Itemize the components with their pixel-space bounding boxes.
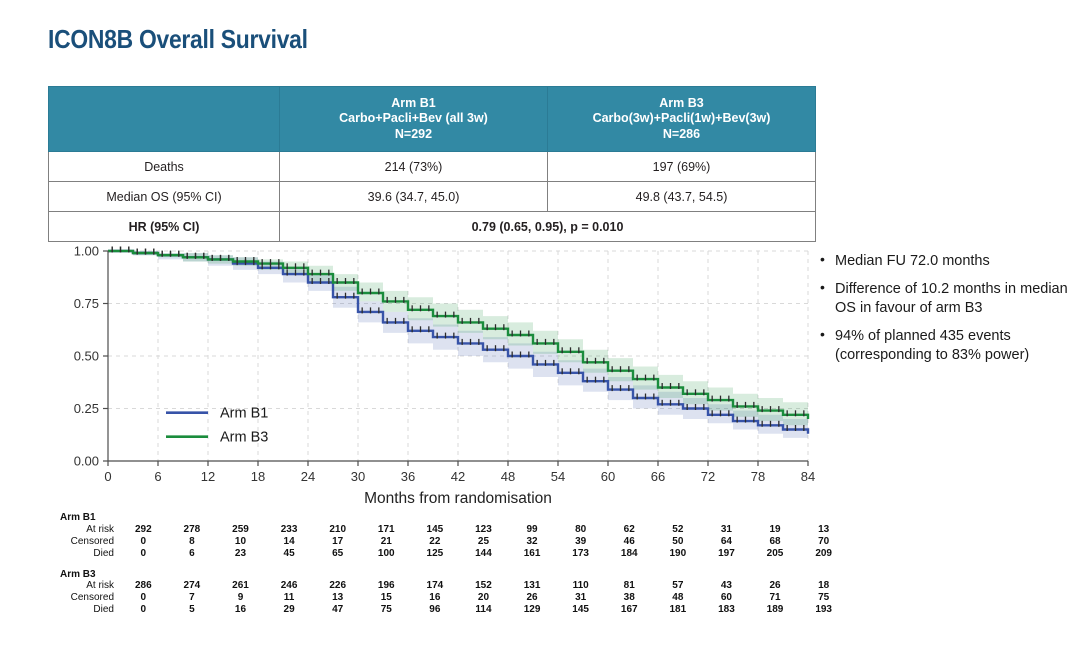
risk-value: 45 [265, 548, 314, 560]
risk-block-arm-b1: Arm B1At risk292278259233210171145123998… [58, 512, 848, 560]
risk-value: 167 [605, 604, 654, 616]
y-axis-tick-label: 0.25 [74, 401, 99, 416]
risk-value: 152 [459, 580, 508, 592]
risk-value: 65 [313, 548, 362, 560]
risk-value: 48 [654, 592, 703, 604]
risk-value: 209 [799, 548, 848, 560]
risk-value: 197 [702, 548, 751, 560]
risk-value: 210 [313, 524, 362, 536]
arm-b3-regimen: Carbo(3w)+Pacli(1w)+Bev(3w) [552, 111, 811, 127]
deaths-arm-b1: 214 (73%) [280, 152, 548, 182]
risk-value: 11 [265, 592, 314, 604]
risk-row-label: At risk [58, 524, 119, 536]
risk-value: 161 [508, 548, 557, 560]
risk-grid: At risk292278259233210171145123998062523… [58, 524, 848, 560]
risk-value: 57 [654, 580, 703, 592]
risk-value: 64 [702, 536, 751, 548]
median-os-arm-b1: 39.6 (34.7, 45.0) [280, 182, 548, 212]
risk-value: 16 [411, 592, 460, 604]
y-axis-tick-label: 0.00 [74, 454, 99, 469]
risk-value: 47 [313, 604, 362, 616]
risk-value: 43 [702, 580, 751, 592]
arm-b1-name: Arm B1 [284, 96, 543, 112]
arm-b3-n: N=286 [552, 127, 811, 143]
risk-value: 174 [411, 580, 460, 592]
risk-value: 50 [654, 536, 703, 548]
risk-value: 246 [265, 580, 314, 592]
risk-value: 233 [265, 524, 314, 536]
risk-value: 6 [168, 548, 217, 560]
risk-value: 13 [799, 524, 848, 536]
risk-value: 18 [799, 580, 848, 592]
risk-value: 144 [459, 548, 508, 560]
risk-value: 38 [605, 592, 654, 604]
column-header-arm-b3: Arm B3 Carbo(3w)+Pacli(1w)+Bev(3w) N=286 [548, 87, 816, 152]
risk-value: 31 [556, 592, 605, 604]
legend-label-arm-b1: Arm B1 [220, 406, 268, 422]
risk-value: 110 [556, 580, 605, 592]
risk-value: 70 [799, 536, 848, 548]
risk-value: 25 [459, 536, 508, 548]
table-row: Censored079111315162026313848607175 [58, 592, 848, 604]
x-axis-tick-label: 6 [154, 469, 161, 484]
risk-value: 22 [411, 536, 460, 548]
risk-value: 114 [459, 604, 508, 616]
table-row-median-os: Median OS (95% CI) 39.6 (34.7, 45.0) 49.… [49, 182, 816, 212]
key-points-list: Median FU 72.0 months Difference of 10.2… [818, 252, 1070, 374]
summary-table: Arm B1 Carbo+Pacli+Bev (all 3w) N=292 Ar… [48, 86, 816, 242]
risk-value: 181 [654, 604, 703, 616]
deaths-arm-b3: 197 (69%) [548, 152, 816, 182]
risk-value: 7 [168, 592, 217, 604]
risk-value: 46 [605, 536, 654, 548]
risk-value: 0 [119, 604, 168, 616]
risk-value: 81 [605, 580, 654, 592]
risk-block-arm-b3: Arm B3At risk286274261246226196174152131… [58, 569, 848, 617]
x-axis-tick-label: 54 [551, 469, 565, 484]
risk-value: 80 [556, 524, 605, 536]
list-item: Median FU 72.0 months [818, 252, 1070, 270]
risk-value: 0 [119, 548, 168, 560]
x-axis-tick-label: 66 [651, 469, 665, 484]
risk-value: 184 [605, 548, 654, 560]
kaplan-meier-chart: 0.000.250.500.751.0006121824303642485460… [56, 243, 816, 513]
risk-value: 71 [751, 592, 800, 604]
risk-value: 286 [119, 580, 168, 592]
risk-value: 26 [751, 580, 800, 592]
list-item: 94% of planned 435 events (corresponding… [818, 327, 1070, 364]
risk-value: 19 [751, 524, 800, 536]
numbers-at-risk-section: Arm B1At risk292278259233210171145123998… [58, 512, 848, 625]
risk-row-label: At risk [58, 580, 119, 592]
risk-value: 0 [119, 536, 168, 548]
column-header-arm-b1: Arm B1 Carbo+Pacli+Bev (all 3w) N=292 [280, 87, 548, 152]
risk-value: 123 [459, 524, 508, 536]
risk-value: 62 [605, 524, 654, 536]
table-row-hazard-ratio: HR (95% CI) 0.79 (0.65, 0.95), p = 0.010 [49, 212, 816, 242]
risk-value: 292 [119, 524, 168, 536]
table-row-deaths: Deaths 214 (73%) 197 (69%) [49, 152, 816, 182]
risk-value: 13 [313, 592, 362, 604]
risk-value: 39 [556, 536, 605, 548]
risk-value: 129 [508, 604, 557, 616]
x-axis-tick-label: 18 [251, 469, 265, 484]
risk-value: 183 [702, 604, 751, 616]
risk-value: 131 [508, 580, 557, 592]
risk-value: 75 [362, 604, 411, 616]
risk-value: 196 [362, 580, 411, 592]
arm-b1-regimen: Carbo+Pacli+Bev (all 3w) [284, 111, 543, 127]
risk-row-label: Censored [58, 536, 119, 548]
risk-value: 205 [751, 548, 800, 560]
table-row: Censored0810141721222532394650646870 [58, 536, 848, 548]
x-axis-tick-label: 12 [201, 469, 215, 484]
x-axis-tick-label: 24 [301, 469, 315, 484]
risk-row-label: Died [58, 548, 119, 560]
risk-value: 226 [313, 580, 362, 592]
y-axis-tick-label: 0.50 [74, 349, 99, 364]
risk-value: 20 [459, 592, 508, 604]
x-axis-tick-label: 60 [601, 469, 615, 484]
table-row: Died062345651001251441611731841901972052… [58, 548, 848, 560]
risk-block-arm-label: Arm B3 [60, 569, 848, 581]
risk-value: 29 [265, 604, 314, 616]
risk-value: 5 [168, 604, 217, 616]
x-axis-tick-label: 78 [751, 469, 765, 484]
risk-value: 189 [751, 604, 800, 616]
risk-value: 10 [216, 536, 265, 548]
risk-value: 99 [508, 524, 557, 536]
risk-value: 278 [168, 524, 217, 536]
risk-block-arm-label: Arm B1 [60, 512, 848, 524]
x-axis-tick-label: 0 [104, 469, 111, 484]
x-axis-tick-label: 30 [351, 469, 365, 484]
page-title: ICON8B Overall Survival [48, 24, 308, 55]
risk-value: 16 [216, 604, 265, 616]
risk-value: 125 [411, 548, 460, 560]
row-label-hazard-ratio: HR (95% CI) [49, 212, 280, 242]
risk-value: 52 [654, 524, 703, 536]
risk-value: 17 [313, 536, 362, 548]
y-axis-tick-label: 1.00 [74, 244, 99, 259]
x-axis-tick-label: 36 [401, 469, 415, 484]
risk-value: 173 [556, 548, 605, 560]
x-axis-tick-label: 84 [801, 469, 815, 484]
row-label-deaths: Deaths [49, 152, 280, 182]
risk-value: 68 [751, 536, 800, 548]
x-axis-tick-label: 72 [701, 469, 715, 484]
row-label-median-os: Median OS (95% CI) [49, 182, 280, 212]
risk-value: 31 [702, 524, 751, 536]
table-row: At risk292278259233210171145123998062523… [58, 524, 848, 536]
table-corner-cell [49, 87, 280, 152]
risk-value: 23 [216, 548, 265, 560]
arm-b1-n: N=292 [284, 127, 543, 143]
risk-value: 60 [702, 592, 751, 604]
table-row: At risk286274261246226196174152131110815… [58, 580, 848, 592]
table-header-row: Arm B1 Carbo+Pacli+Bev (all 3w) N=292 Ar… [49, 87, 816, 152]
risk-row-label: Died [58, 604, 119, 616]
risk-value: 15 [362, 592, 411, 604]
y-axis-tick-label: 0.75 [74, 296, 99, 311]
list-item: Difference of 10.2 months in median OS i… [818, 280, 1070, 317]
x-axis-label: Months from randomisation [364, 490, 552, 507]
risk-value: 100 [362, 548, 411, 560]
risk-value: 261 [216, 580, 265, 592]
risk-value: 9 [216, 592, 265, 604]
risk-value: 145 [411, 524, 460, 536]
x-axis-tick-label: 48 [501, 469, 515, 484]
table-row: Died051629477596114129145167181183189193 [58, 604, 848, 616]
risk-value: 32 [508, 536, 557, 548]
risk-value: 75 [799, 592, 848, 604]
risk-row-label: Censored [58, 592, 119, 604]
risk-value: 259 [216, 524, 265, 536]
risk-value: 190 [654, 548, 703, 560]
risk-value: 0 [119, 592, 168, 604]
arm-b3-name: Arm B3 [552, 96, 811, 112]
median-os-arm-b3: 49.8 (43.7, 54.5) [548, 182, 816, 212]
risk-value: 8 [168, 536, 217, 548]
hazard-ratio-value: 0.79 (0.65, 0.95), p = 0.010 [280, 212, 816, 242]
legend-label-arm-b3: Arm B3 [220, 430, 268, 446]
risk-value: 96 [411, 604, 460, 616]
risk-value: 171 [362, 524, 411, 536]
risk-value: 193 [799, 604, 848, 616]
risk-value: 26 [508, 592, 557, 604]
risk-value: 21 [362, 536, 411, 548]
x-axis-tick-label: 42 [451, 469, 465, 484]
risk-value: 145 [556, 604, 605, 616]
risk-value: 14 [265, 536, 314, 548]
risk-value: 274 [168, 580, 217, 592]
risk-grid: At risk286274261246226196174152131110815… [58, 580, 848, 616]
